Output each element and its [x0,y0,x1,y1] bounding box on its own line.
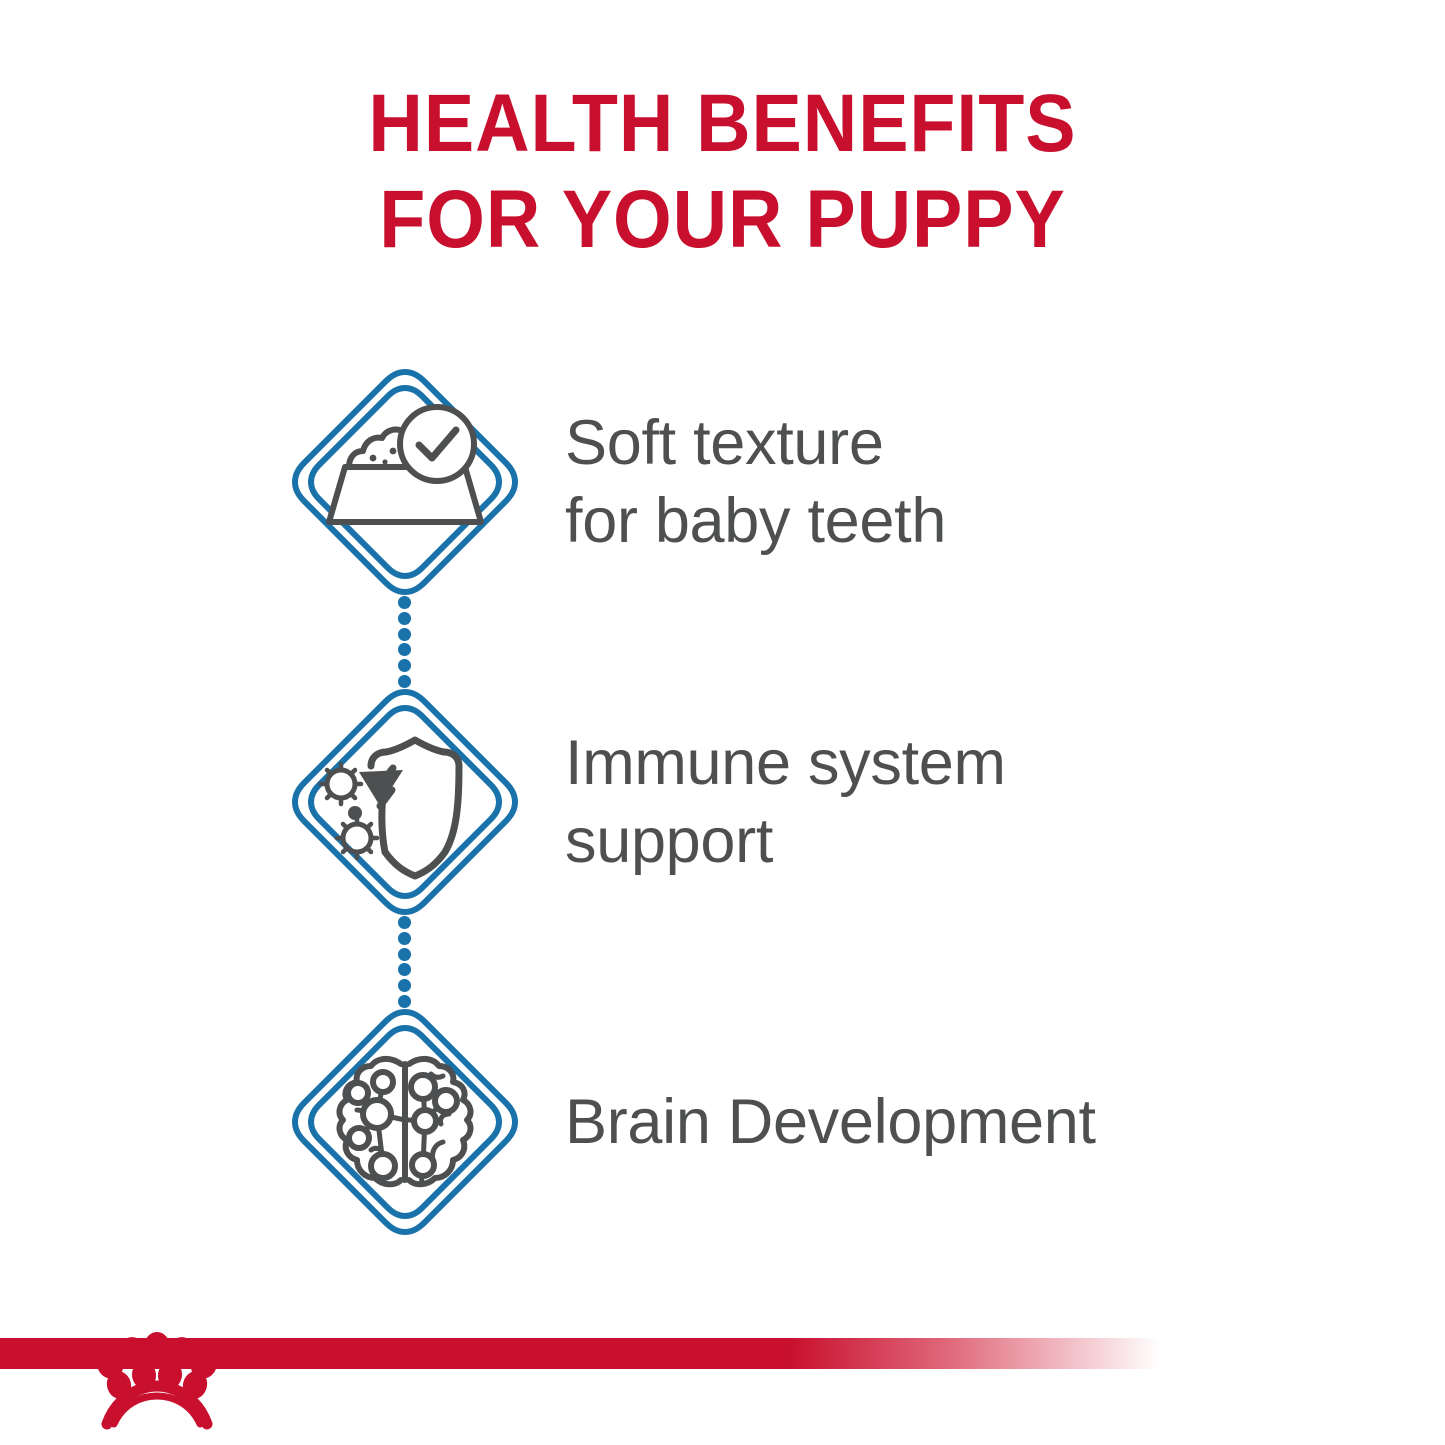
benefit-label-line-1: Immune system [565,728,1006,798]
footer [0,1320,1445,1445]
connector-dot [398,932,411,945]
connector-dot [398,643,411,656]
connector-dot [398,963,411,976]
page-title: HEALTH BENEFITS FOR YOUR PUPPY [0,76,1445,268]
benefits-list: Soft texture for baby teeth [0,362,1445,1242]
benefit-label-line-1: Soft texture [565,408,884,478]
title-line-2: FOR YOUR PUPPY [58,172,1387,268]
connector-dot [398,628,411,641]
benefit-row: Brain Development [0,1002,1445,1242]
royal-canin-crown-logo [83,1320,231,1430]
benefit-label: Brain Development [565,1083,1096,1161]
dotted-connector [395,596,413,688]
food-bowl-check-icon [285,362,525,602]
brain-network-icon [285,1002,525,1242]
benefit-row: Immune system support [0,682,1445,922]
connector-dot [398,612,411,625]
benefit-row: Soft texture for baby teeth [0,362,1445,602]
connector-dot [398,948,411,961]
benefit-label: Immune system support [565,724,1006,880]
title-line-1: HEALTH BENEFITS [58,76,1387,172]
connector-gap [0,922,1445,1002]
connector-dot [398,916,411,929]
connector-dot [398,596,411,609]
shield-germs-icon [285,682,525,922]
benefit-label: Soft texture for baby teeth [565,404,946,560]
connector-dot [398,659,411,672]
connector-gap [0,602,1445,682]
benefit-label-line-2: for baby teeth [565,482,946,560]
dotted-connector [395,916,413,1008]
health-benefits-infographic: HEALTH BENEFITS FOR YOUR PUPPY [0,0,1445,1445]
benefit-label-line-2: support [565,802,1006,880]
connector-dot [398,979,411,992]
benefit-label-line-1: Brain Development [565,1087,1096,1157]
